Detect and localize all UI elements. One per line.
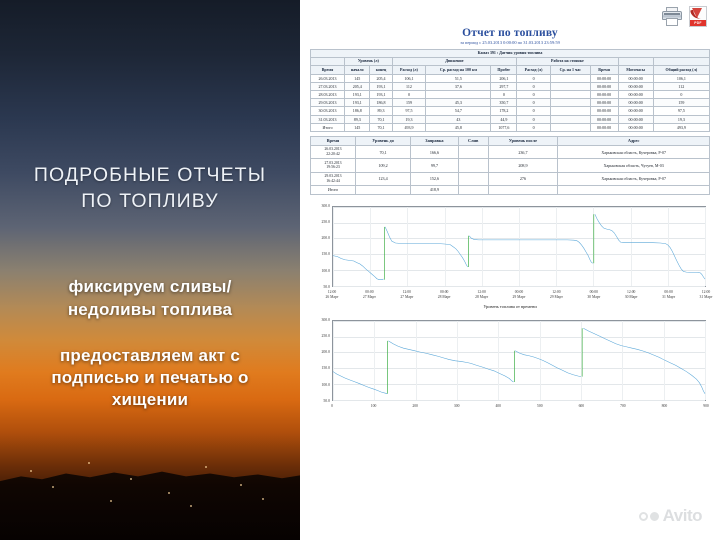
y-axis-tick-label: 200.0	[310, 350, 330, 354]
promo-headline-line1: ПОДРОБНЫЕ ОТЧЕТЫ	[34, 163, 266, 189]
cell-r4-c10: 97,5	[653, 107, 709, 115]
x-axis-tick-label: 900	[703, 404, 709, 409]
table-row: Итого14570,1493,945,81077,6000:00:0000:0…	[311, 123, 710, 131]
column-header-0: Время	[311, 66, 345, 74]
x-axis-tick-label: 100	[371, 404, 377, 409]
cell-r4-c0: 30.03.2013	[311, 107, 345, 115]
cell-r6-c10: 493,9	[653, 123, 709, 131]
column-header-8: Время	[590, 66, 618, 74]
cell-r0-c7	[550, 74, 590, 82]
fuel-level-series	[595, 214, 705, 279]
refuel-cell-r1-c5: Харьковская область, Чугуев, М-03	[558, 159, 710, 172]
column-header-1: начало	[345, 66, 370, 74]
fuel-level-series	[333, 255, 384, 279]
table-row: 26.03.2013145205,4106,151,5206,1000:00:0…	[311, 74, 710, 82]
report-title: Отчет по топливу	[310, 27, 710, 39]
refuel-cell-r2-c5: Харьковская область, Кучеровка, Р-07	[558, 172, 710, 185]
refuel-cell-r2-c2: 152,6	[411, 172, 459, 185]
y-axis-tick-label: 150.0	[310, 366, 330, 370]
refuel-table: ВремяУровень доЗаправкаСливУровень после…	[310, 136, 710, 195]
y-axis-tick-label: 100.0	[310, 383, 330, 387]
cell-r4-c8: 00:00:00	[590, 107, 618, 115]
x-axis-tick-label: 12:0030 Март	[625, 290, 638, 300]
table-row: Итого418,9	[311, 185, 710, 194]
refuel-column-header-0: Время	[311, 136, 356, 145]
cell-r5-c1: 89,3	[345, 115, 370, 123]
plot-canvas	[332, 206, 706, 287]
series-layer	[333, 321, 705, 400]
x-axis-tick-label: 00:0029 Март	[513, 290, 526, 300]
cell-r2-c1: 193,1	[345, 90, 370, 98]
promo-panel: ПОДРОБНЫЕ ОТЧЕТЫ ПО ТОПЛИВУ фиксируем сл…	[0, 0, 300, 540]
cell-r1-c5: 297,7	[491, 82, 517, 90]
cell-r3-c3: 159	[392, 99, 426, 107]
column-header-10: Общий расход (л)	[653, 66, 709, 74]
gridline-h	[333, 286, 705, 287]
refuel-cell-r1-c0: 27.03.201319:56:23	[311, 159, 356, 172]
cell-r0-c2: 205,4	[370, 74, 392, 82]
refuel-cell-r3-c0: Итого	[311, 185, 356, 194]
report-toolbar: PDF	[662, 6, 708, 27]
cell-r0-c4: 51,5	[426, 74, 491, 82]
group-header-1: Уровень (л)	[345, 58, 393, 66]
gridline-v	[705, 207, 706, 286]
column-header-5: Пробег	[491, 66, 517, 74]
cell-r1-c8: 00:00:00	[590, 82, 618, 90]
fuel-level-series	[583, 328, 705, 393]
refuel-cell-r1-c4: 208,9	[488, 159, 558, 172]
cell-r4-c1: 186,8	[345, 107, 370, 115]
refuel-cell-r2-c3	[458, 172, 488, 185]
x-axis-tick-label: 00:0031 Март	[662, 290, 675, 300]
fuel-level-series	[515, 350, 581, 376]
plot-canvas	[332, 320, 706, 401]
cell-r0-c6: 0	[517, 74, 551, 82]
fuel-level-series	[388, 341, 513, 382]
cell-r0-c10: 106,1	[653, 74, 709, 82]
fuel-level-series	[333, 371, 387, 393]
y-axis-tick-label: 250.0	[310, 334, 330, 338]
consumption-table-body: 26.03.2013145205,4106,151,5206,1000:00:0…	[311, 74, 710, 131]
column-header-3: Расход (л)	[392, 66, 426, 74]
cell-r1-c1: 205,4	[345, 82, 370, 90]
gridline-h	[333, 400, 705, 401]
report-subtitle: за период с 25.03.2013 0:00:00 по 31.03.…	[310, 40, 710, 45]
y-axis-tick-label: 100.0	[310, 269, 330, 273]
cell-r5-c9: 00:00:00	[618, 115, 653, 123]
cell-r3-c8: 00:00:00	[590, 99, 618, 107]
cell-r3-c7	[550, 99, 590, 107]
cell-r2-c4	[426, 90, 491, 98]
refuel-cell-r3-c3	[458, 185, 488, 194]
cell-r6-c2: 70,1	[370, 123, 392, 131]
refuel-cell-r0-c4: 236,7	[488, 146, 558, 159]
y-axis-tick-label: 200.0	[310, 236, 330, 240]
cell-r6-c8: 00:00:00	[590, 123, 618, 131]
chart-1-plot-area: 50.0100.0150.0200.0250.0300.012:0026 Мар…	[310, 202, 710, 303]
x-axis-tick-label: 800	[662, 404, 668, 409]
cell-r1-c9: 00:00:00	[618, 82, 653, 90]
cell-r0-c3: 106,1	[392, 74, 426, 82]
table-row: 31.03.201389,370,119,34344,9000:00:0000:…	[311, 115, 710, 123]
cell-r2-c3: 0	[392, 90, 426, 98]
cell-r6-c0: Итого	[311, 123, 345, 131]
refuel-cell-r1-c1: 109,2	[356, 159, 411, 172]
series-layer	[333, 207, 705, 286]
column-header-9: Моточасы	[618, 66, 653, 74]
x-axis-tick-label: 12:0031 Март	[700, 290, 713, 300]
cell-r1-c7	[550, 82, 590, 90]
refuel-column-header-4: Уровень после	[488, 136, 558, 145]
promo-headline-line2: ПО ТОПЛИВУ	[34, 189, 266, 215]
group-header-4	[618, 58, 653, 66]
x-axis-tick-label: 700	[620, 404, 626, 409]
cell-r0-c9: 00:00:00	[618, 74, 653, 82]
cell-r5-c4: 43	[426, 115, 491, 123]
refuel-table-head: ВремяУровень доЗаправкаСливУровень после…	[311, 136, 710, 145]
y-axis-tick-label: 50.0	[310, 399, 330, 403]
cell-r1-c0: 27.03.2013	[311, 82, 345, 90]
refuel-column-header-3: Слив	[458, 136, 488, 145]
refuel-cell-r0-c3	[458, 146, 488, 159]
cell-r6-c6: 0	[517, 123, 551, 131]
column-header-7: Ср. на 1 час	[550, 66, 590, 74]
avito-watermark-text: Avito	[663, 506, 702, 526]
table-row: 26.03.201322:20:4270,1166,6236,7Харьковс…	[311, 146, 710, 159]
chart-2-plot-area: 50.0100.0150.0200.0250.0300.001002003004…	[310, 316, 710, 417]
refuel-cell-r3-c1	[356, 185, 411, 194]
table-row: 30.03.2013186,889,397,554,7178,2000:00:0…	[311, 107, 710, 115]
printer-icon[interactable]	[662, 6, 682, 27]
cell-r2-c9: 00:00:00	[618, 90, 653, 98]
cell-r2-c2: 193,1	[370, 90, 392, 98]
fuel-level-series	[385, 227, 468, 267]
cell-r2-c5: 0	[491, 90, 517, 98]
cell-r6-c9: 00:00:00	[618, 123, 653, 131]
cell-r5-c0: 31.03.2013	[311, 115, 345, 123]
y-axis-tick-label: 300.0	[310, 204, 330, 208]
cell-r2-c7	[550, 90, 590, 98]
cell-r3-c4: 45,3	[426, 99, 491, 107]
group-header-2: Движение	[392, 58, 517, 66]
cell-r5-c7	[550, 115, 590, 123]
x-axis-tick-label: 12:0028 Март	[475, 290, 488, 300]
refuel-cell-r0-c5: Харьковская область, Кучеровка, Р-07	[558, 146, 710, 159]
refuel-cell-r3-c2: 418,9	[411, 185, 459, 194]
x-axis-tick-label: 00:0027 Март	[363, 290, 376, 300]
table-row: 29.03.2013193,1186,815945,3350,7000:00:0…	[311, 99, 710, 107]
y-axis-tick-label: 300.0	[310, 318, 330, 322]
refuel-column-header-1: Уровень до	[356, 136, 411, 145]
consumption-table-head: Камаз 391 : Датчик уровня топлива Уровен…	[311, 50, 710, 75]
cell-r4-c7	[550, 107, 590, 115]
cell-r1-c3: 112	[392, 82, 426, 90]
cell-r0-c5: 206,1	[491, 74, 517, 82]
cell-r3-c6: 0	[517, 99, 551, 107]
group-header-0	[311, 58, 345, 66]
cell-r5-c5: 44,9	[491, 115, 517, 123]
cell-r6-c7	[550, 123, 590, 131]
refuel-cell-r3-c5	[558, 185, 710, 194]
refuel-cell-r3-c4	[488, 185, 558, 194]
promo-bullet-1: фиксируем сливы/ недоливы топлива	[68, 276, 232, 320]
group-header-5	[653, 58, 709, 66]
cell-r2-c8: 00:00:00	[590, 90, 618, 98]
fuel-level-time-chart: 50.0100.0150.0200.0250.0300.012:0026 Мар…	[310, 202, 710, 309]
refuel-cell-r2-c4: 276	[488, 172, 558, 185]
cell-r3-c9: 00:00:00	[618, 99, 653, 107]
x-axis-tick-label: 500	[537, 404, 543, 409]
x-axis-tick-label: 0	[331, 404, 333, 409]
cell-r5-c2: 70,1	[370, 115, 392, 123]
promo-content: ПОДРОБНЫЕ ОТЧЕТЫ ПО ТОПЛИВУ фиксируем сл…	[0, 0, 300, 540]
refuel-cell-r0-c2: 166,6	[411, 146, 459, 159]
refuel-header-row: ВремяУровень доЗаправкаСливУровень после…	[311, 136, 710, 145]
x-axis-tick-label: 300	[454, 404, 460, 409]
cell-r1-c10: 112	[653, 82, 709, 90]
cell-r2-c6: 0	[517, 90, 551, 98]
table-row: 28.03.2013193,1193,100000:00:0000:00:000	[311, 90, 710, 98]
x-axis-tick-label: 200	[412, 404, 418, 409]
cell-r6-c1: 145	[345, 123, 370, 131]
x-axis-tick-label: 400	[495, 404, 501, 409]
fuel-level-series	[469, 235, 593, 262]
cell-r3-c1: 193,1	[345, 99, 370, 107]
cell-r0-c1: 145	[345, 74, 370, 82]
refuel-column-header-2: Заправка	[411, 136, 459, 145]
refuel-cell-r0-c0: 26.03.201322:20:42	[311, 146, 356, 159]
refuel-cell-r0-c1: 70,1	[356, 146, 411, 159]
refuel-cell-r1-c3	[458, 159, 488, 172]
y-axis-tick-label: 50.0	[310, 285, 330, 289]
cell-r4-c6: 0	[517, 107, 551, 115]
x-axis-tick-label: 12:0027 Март	[400, 290, 413, 300]
table-row: 27.03.201319:56:23109,299,7208,9Харьковс…	[311, 159, 710, 172]
consumption-table: Камаз 391 : Датчик уровня топлива Уровен…	[310, 49, 710, 132]
cell-r3-c2: 186,8	[370, 99, 392, 107]
cell-r0-c8: 00:00:00	[590, 74, 618, 82]
device-name: Камаз 391 : Датчик уровня топлива	[311, 50, 710, 58]
cell-r5-c6: 0	[517, 115, 551, 123]
fuel-level-distance-chart: 50.0100.0150.0200.0250.0300.001002003004…	[310, 316, 710, 417]
cell-r4-c5: 178,2	[491, 107, 517, 115]
gridline-v	[705, 321, 706, 400]
chart-1-title: Уровень топлива от времени	[310, 304, 710, 309]
cell-r3-c10: 159	[653, 99, 709, 107]
promo-bullet-2: предоставляем акт с подписью и печатью о…	[51, 345, 248, 411]
cell-r1-c4: 37,6	[426, 82, 491, 90]
group-header-row: Уровень (л)ДвижениеРабота на стоянке	[311, 58, 710, 66]
cell-r4-c2: 89,3	[370, 107, 392, 115]
refuel-column-header-5: Адрес	[558, 136, 710, 145]
y-axis-tick-label: 250.0	[310, 220, 330, 224]
device-header-row: Камаз 391 : Датчик уровня топлива	[311, 50, 710, 58]
refuel-cell-r2-c1: 123,4	[356, 172, 411, 185]
column-header-2: конец	[370, 66, 392, 74]
x-axis-tick-label: 600	[579, 404, 585, 409]
refuel-cell-r1-c2: 99,7	[411, 159, 459, 172]
cell-r2-c0: 28.03.2013	[311, 90, 345, 98]
cell-r6-c5: 1077,6	[491, 123, 517, 131]
table-row: 29.03.201316:42:44123,4152,6276Харьковск…	[311, 172, 710, 185]
x-axis-tick-label: 12:0026 Март	[326, 290, 339, 300]
refuel-cell-r2-c0: 29.03.201316:42:44	[311, 172, 356, 185]
cell-r5-c3: 19,3	[392, 115, 426, 123]
cell-r0-c0: 26.03.2013	[311, 74, 345, 82]
screenshot-root: ПОДРОБНЫЕ ОТЧЕТЫ ПО ТОПЛИВУ фиксируем сл…	[0, 0, 720, 540]
column-header-4: Ср. расход на 100 км	[426, 66, 491, 74]
refuel-table-body: 26.03.201322:20:4270,1166,6236,7Харьковс…	[311, 146, 710, 195]
column-header-6: Расход (л)	[517, 66, 551, 74]
cell-r6-c3: 493,9	[392, 123, 426, 131]
cell-r2-c10: 0	[653, 90, 709, 98]
cell-r4-c3: 97,5	[392, 107, 426, 115]
y-axis-tick-label: 150.0	[310, 252, 330, 256]
cell-r1-c6: 0	[517, 82, 551, 90]
report-panel: PDF Отчет по топливу за период с 25.03.2…	[300, 0, 720, 540]
x-axis-tick-label: 00:0030 Март	[587, 290, 600, 300]
pdf-icon[interactable]: PDF	[688, 6, 708, 27]
avito-watermark: Avito	[639, 506, 702, 526]
cell-r1-c2: 193,1	[370, 82, 392, 90]
cell-r4-c4: 54,7	[426, 107, 491, 115]
cell-r6-c4: 45,8	[426, 123, 491, 131]
group-header-3: Работа на стоянке	[517, 58, 618, 66]
x-axis-tick-label: 00:0028 Март	[438, 290, 451, 300]
cell-r4-c9: 00:00:00	[618, 107, 653, 115]
cell-r5-c10: 19,3	[653, 115, 709, 123]
x-axis-tick-label: 12:0029 Март	[550, 290, 563, 300]
cell-r3-c5: 350,7	[491, 99, 517, 107]
promo-headline: ПОДРОБНЫЕ ОТЧЕТЫ ПО ТОПЛИВУ	[34, 163, 266, 214]
avito-logo-icon	[639, 512, 659, 521]
cell-r3-c0: 29.03.2013	[311, 99, 345, 107]
cell-r5-c8: 00:00:00	[590, 115, 618, 123]
table-row: 27.03.2013205,4193,111237,6297,7000:00:0…	[311, 82, 710, 90]
pdf-icon-label: PDF	[690, 20, 706, 26]
column-header-row: ВремяначалоконецРасход (л)Ср. расход на …	[311, 66, 710, 74]
